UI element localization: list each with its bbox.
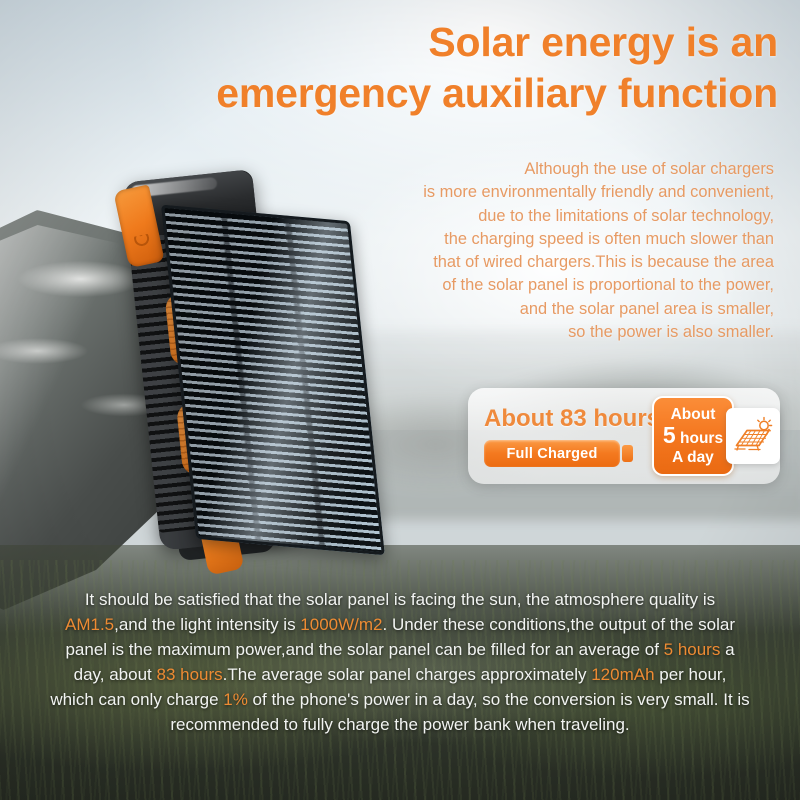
- bottom-paragraph: It should be satisfied that the solar pa…: [50, 588, 750, 738]
- bottom-copy-highlight: 1%: [223, 690, 248, 709]
- bottom-copy-highlight: 83 hours: [156, 665, 222, 684]
- solar-panel-sun-icon: [726, 408, 780, 464]
- poster-canvas: Solar energy is an emergency auxiliary f…: [0, 0, 800, 800]
- page-title: Solar energy is an emergency auxiliary f…: [118, 22, 778, 115]
- battery-indicator: Full Charged: [484, 440, 634, 467]
- bottom-copy-text: .The average solar panel charges approxi…: [223, 665, 592, 684]
- intro-line-2: is more environmentally friendly and con…: [296, 181, 774, 204]
- daybox-line-3: A day: [672, 449, 714, 466]
- battery-cap: [622, 445, 633, 462]
- daybox-unit: hours: [680, 430, 723, 447]
- headline-line-1: Solar energy is an: [428, 19, 778, 65]
- bottom-copy-text: It should be satisfied that the solar pa…: [85, 590, 715, 609]
- bottom-copy-text: of the phone's power in a day, so the co…: [170, 690, 749, 734]
- about-hours-label: About 83 hours: [484, 405, 648, 433]
- full-charged-label: Full Charged: [506, 446, 597, 462]
- bottom-copy-highlight: 5 hours: [664, 640, 721, 659]
- intro-line-5: that of wired chargers.This is because t…: [296, 251, 774, 274]
- bottom-copy-highlight: 1000W/m2: [300, 615, 382, 634]
- bottom-copy-highlight: 120mAh: [591, 665, 654, 684]
- intro-paragraph: Although the use of solar chargersis mor…: [296, 158, 774, 344]
- daybox-line-2: 5 hours: [663, 423, 723, 449]
- intro-line-3: due to the limitations of solar technolo…: [296, 205, 774, 228]
- daybox-number: 5: [663, 422, 676, 448]
- intro-line-6: of the solar panel is proportional to th…: [296, 274, 774, 297]
- battery-fill: Full Charged: [484, 440, 620, 467]
- callout-left-column: About 83 hours Full Charged: [468, 405, 648, 467]
- intro-line-8: so the power is also smaller.: [296, 321, 774, 344]
- bottom-copy-text: ,and the light intensity is: [114, 615, 300, 634]
- daybox-line-1: About: [671, 406, 716, 423]
- intro-line-7: and the solar panel area is smaller,: [296, 298, 774, 321]
- headline-line-2: emergency auxiliary function: [118, 73, 778, 115]
- intro-line-1: Although the use of solar chargers: [296, 158, 774, 181]
- bottom-copy-highlight: AM1.5: [65, 615, 114, 634]
- intro-line-4: the charging speed is often much slower …: [296, 228, 774, 251]
- hours-per-day-box: About 5 hours A day: [652, 396, 734, 476]
